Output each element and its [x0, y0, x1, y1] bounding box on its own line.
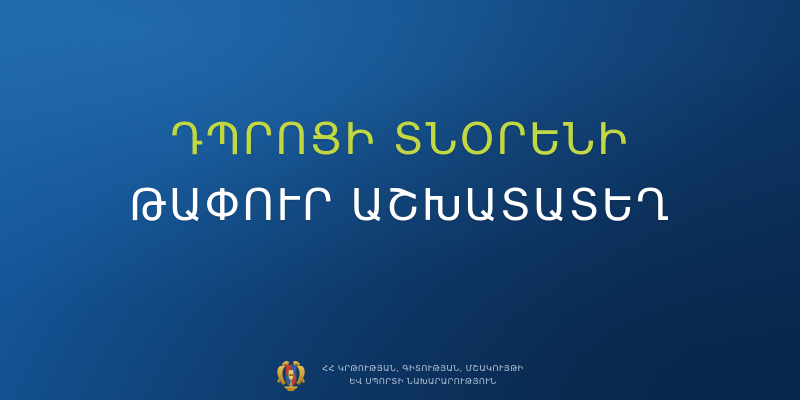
ministry-lockup: ՀՀ ԿՐԹՈՒԹՅԱՆ, ԳԻՏՈՒԹՅԱՆ, ՄՇԱԿՈՒՅԹԻ ԵՎ ՍՊ… — [0, 358, 800, 392]
ministry-name-line-1: ՀՀ ԿՐԹՈՒԹՅԱՆ, ԳԻՏՈՒԹՅԱՆ, ՄՇԱԿՈՒՅԹԻ — [322, 362, 524, 375]
announcement-banner: ԴՊՐՈՑԻ ՏՆՕՐԵՆԻ ԹԱՓՈՒՐ ԱՇԽԱՏԱՏԵՂ — [0, 0, 800, 400]
headline-line-1: ԴՊՐՈՑԻ ՏՆՕՐԵՆԻ — [0, 118, 800, 162]
headline-line-2: ԹԱՓՈՒՐ ԱՇԽԱՏԱՏԵՂ — [0, 184, 800, 228]
ministry-name-line-2: ԵՎ ՍՊՈՐՏԻ ՆԱԽԱՐԱՐՈՒԹՅՈՒՆ — [322, 375, 524, 388]
ministry-name: ՀՀ ԿՐԹՈՒԹՅԱՆ, ԳԻՏՈՒԹՅԱՆ, ՄՇԱԿՈՒՅԹԻ ԵՎ ՍՊ… — [322, 362, 524, 387]
headline-block: ԴՊՐՈՑԻ ՏՆՕՐԵՆԻ ԹԱՓՈՒՐ ԱՇԽԱՏԱՏԵՂ — [0, 118, 800, 228]
armenia-coat-of-arms-icon — [276, 358, 306, 392]
